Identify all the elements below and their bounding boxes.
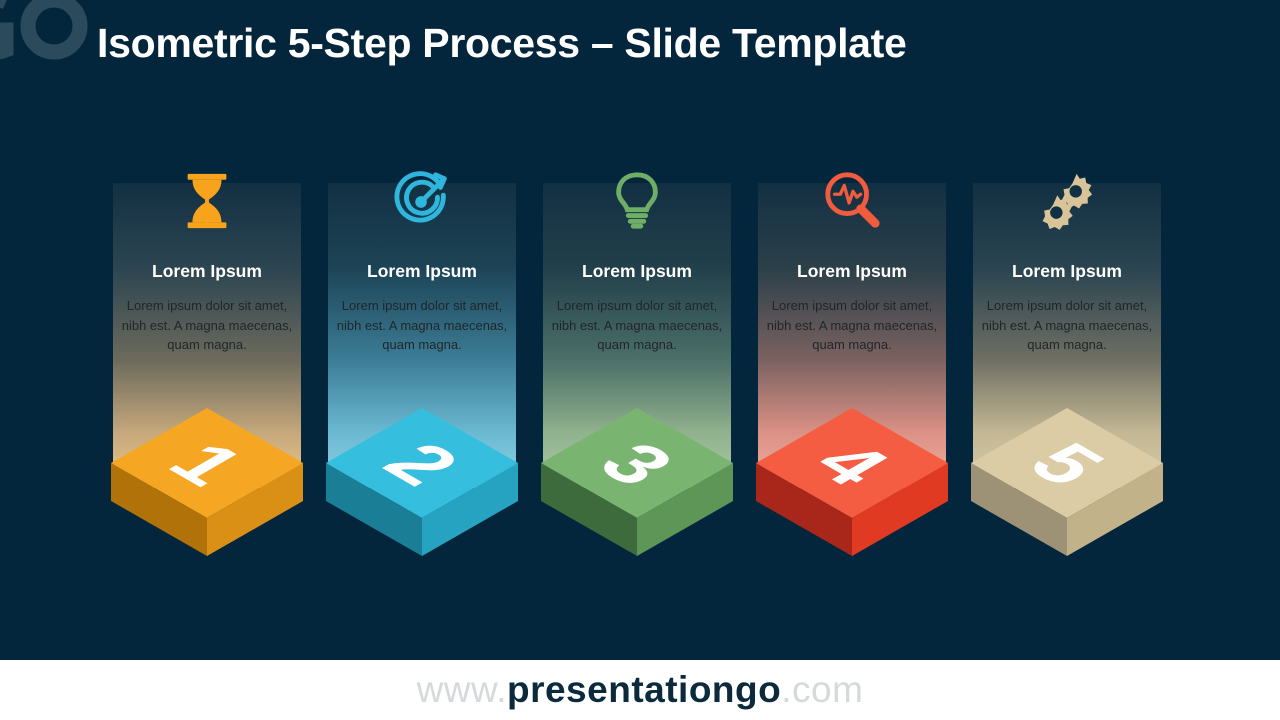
step-card-5[interactable]: Lorem Ipsum Lorem ipsum dolor sit amet, … [973, 183, 1161, 583]
step-title-2: Lorem Ipsum [328, 261, 516, 282]
page-title: Isometric 5-Step Process – Slide Templat… [97, 20, 907, 67]
step-card-4[interactable]: Lorem Ipsum Lorem ipsum dolor sit amet, … [758, 183, 946, 583]
step-description-1: Lorem ipsum dolor sit amet, nibh est. A … [121, 296, 293, 355]
step-card-3[interactable]: Lorem Ipsum Lorem ipsum dolor sit amet, … [543, 183, 731, 583]
step-cube-3: 3 [537, 388, 737, 563]
step-title-5: Lorem Ipsum [973, 261, 1161, 282]
footer-bar: www.presentationgo.com [0, 660, 1280, 720]
target-dart-icon [328, 155, 516, 247]
step-cube-5: 5 [967, 388, 1167, 563]
step-card-1[interactable]: Lorem Ipsum Lorem ipsum dolor sit amet, … [113, 183, 301, 583]
presentationgo-logo-watermark [0, 0, 88, 72]
magnifier-pulse-icon [758, 155, 946, 247]
step-cube-4: 4 [752, 388, 952, 563]
step-title-3: Lorem Ipsum [543, 261, 731, 282]
step-card-2[interactable]: Lorem Ipsum Lorem ipsum dolor sit amet, … [328, 183, 516, 583]
footer-url-suffix: .com [781, 669, 863, 710]
footer-website-url[interactable]: www.presentationgo.com [417, 669, 864, 711]
process-steps-row: Lorem Ipsum Lorem ipsum dolor sit amet, … [0, 183, 1280, 583]
step-cube-2: 2 [322, 388, 522, 563]
step-description-3: Lorem ipsum dolor sit amet, nibh est. A … [551, 296, 723, 355]
step-description-4: Lorem ipsum dolor sit amet, nibh est. A … [766, 296, 938, 355]
step-description-2: Lorem ipsum dolor sit amet, nibh est. A … [336, 296, 508, 355]
gears-icon [973, 155, 1161, 247]
footer-url-prefix: www. [417, 669, 507, 710]
step-title-1: Lorem Ipsum [113, 261, 301, 282]
footer-url-brand: presentationgo [507, 669, 781, 710]
step-description-5: Lorem ipsum dolor sit amet, nibh est. A … [981, 296, 1153, 355]
step-title-4: Lorem Ipsum [758, 261, 946, 282]
hourglass-icon [113, 155, 301, 247]
lightbulb-icon [543, 155, 731, 247]
step-cube-1: 1 [107, 388, 307, 563]
